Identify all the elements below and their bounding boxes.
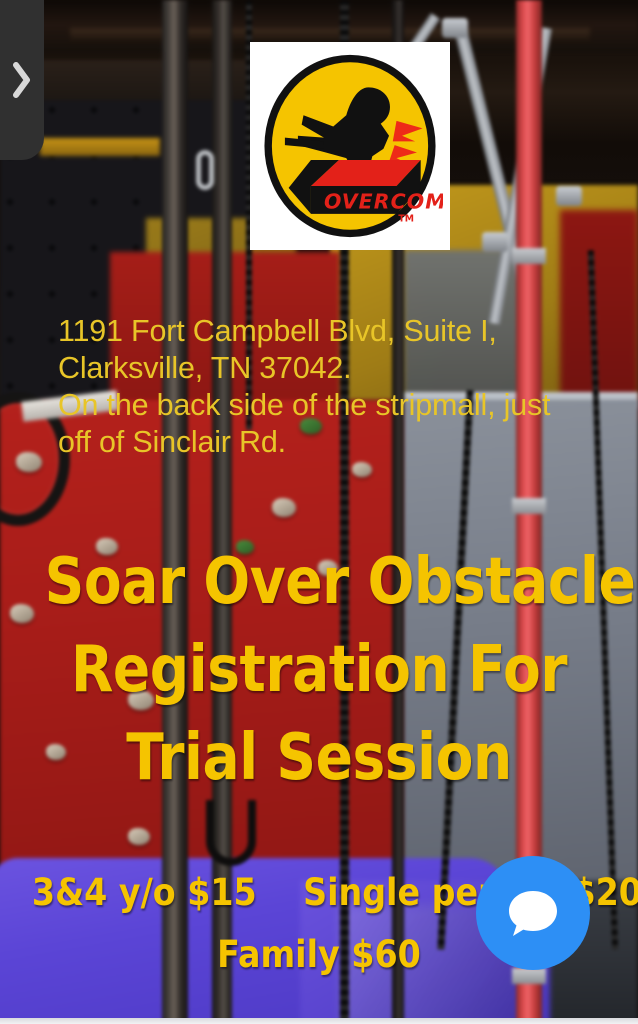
climbing-hold bbox=[128, 828, 150, 845]
logo-wordmark: OVERCOME bbox=[324, 189, 443, 213]
bottom-edge-strip bbox=[0, 1018, 638, 1024]
headline-line-1: Soar Over Obstacles bbox=[45, 538, 594, 626]
headline-line-2: Registration For bbox=[45, 626, 594, 714]
carabiner bbox=[196, 150, 214, 190]
promo-headline: Soar Over Obstacles Registration For Tri… bbox=[45, 538, 594, 802]
chat-bubble-icon bbox=[505, 887, 561, 939]
pole-clamp bbox=[512, 248, 546, 264]
page-root: OVERCOME TM 1191 Fort Campbell Blvd, Sui… bbox=[0, 0, 638, 1024]
chevron-right-icon bbox=[11, 61, 33, 99]
chat-widget-button[interactable] bbox=[476, 856, 590, 970]
climbing-hold bbox=[352, 462, 372, 477]
truss-connector bbox=[442, 18, 468, 38]
headline-line-3: Trial Session bbox=[45, 714, 594, 802]
logo-trademark: TM bbox=[398, 213, 414, 224]
truss-connector bbox=[482, 232, 508, 252]
expand-panel-tab[interactable] bbox=[0, 0, 44, 160]
overcome-logo: OVERCOME TM bbox=[257, 48, 443, 244]
climbing-hold bbox=[10, 604, 34, 623]
climbing-hold bbox=[272, 498, 296, 517]
overcome-logo-card: OVERCOME TM bbox=[250, 42, 450, 250]
yellow-trim-left bbox=[40, 138, 160, 156]
hanging-handle-loop bbox=[206, 800, 256, 866]
pole-clamp bbox=[512, 498, 546, 514]
ceiling-beam bbox=[70, 28, 590, 42]
venue-address: 1191 Fort Campbell Blvd, Suite I, Clarks… bbox=[58, 313, 628, 461]
truss-connector bbox=[556, 186, 582, 206]
